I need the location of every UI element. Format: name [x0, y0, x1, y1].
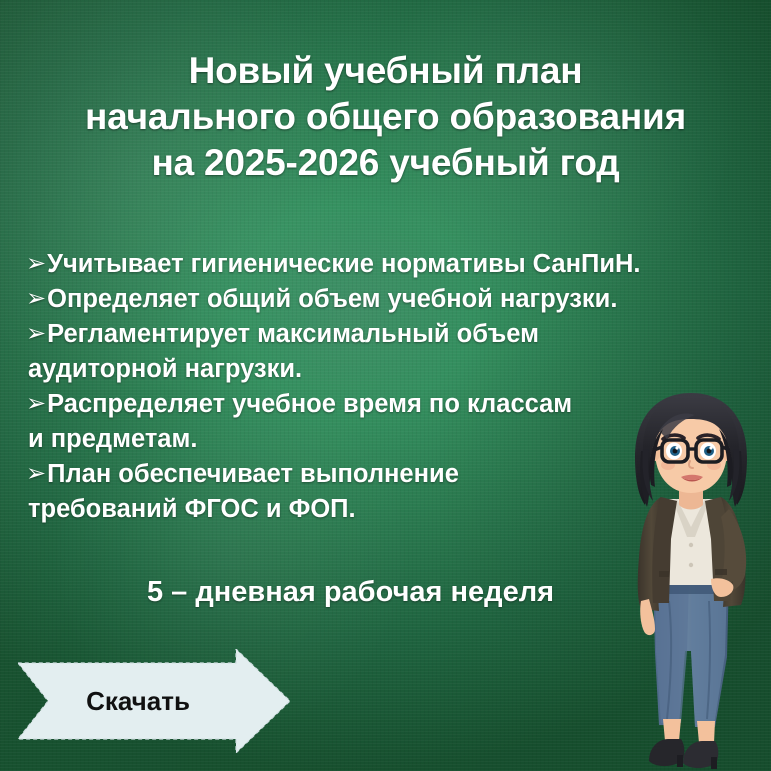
title-line-2: начального общего образования: [26, 94, 745, 140]
chevron-right-icon: ➢: [26, 281, 46, 316]
arrow-right-icon: [18, 649, 290, 753]
list-item: ➢Регламентирует максимальный объем: [26, 317, 746, 352]
chevron-right-icon: ➢: [26, 386, 46, 421]
list-item: ➢Определяет общий объем учебной нагрузки…: [26, 282, 746, 317]
list-item-continuation: аудиторной нагрузки.: [26, 352, 746, 387]
page-title: Новый учебный план начального общего обр…: [0, 48, 771, 186]
teacher-illustration: [611, 389, 771, 771]
download-button[interactable]: Скачать: [18, 649, 290, 753]
list-item-label: Определяет общий объем учебной нагрузки.: [47, 285, 617, 313]
chalkboard-slide: Новый учебный план начального общего обр…: [0, 0, 771, 771]
list-item: ➢Учитывает гигиенические нормативы СанПи…: [26, 247, 746, 282]
list-item-label: Учитывает гигиенические нормативы СанПиН…: [47, 250, 640, 278]
title-line-3: на 2025-2026 учебный год: [26, 140, 745, 186]
title-line-1: Новый учебный план: [26, 48, 745, 94]
list-item-label: Регламентирует максимальный объем: [47, 320, 539, 348]
list-item-label: План обеспечивает выполнение: [47, 460, 459, 488]
chevron-right-icon: ➢: [26, 456, 46, 491]
list-item-label: Распределяет учебное время по классам: [47, 390, 572, 418]
chevron-right-icon: ➢: [26, 246, 46, 281]
shoes: [649, 739, 718, 769]
chevron-right-icon: ➢: [26, 316, 46, 351]
